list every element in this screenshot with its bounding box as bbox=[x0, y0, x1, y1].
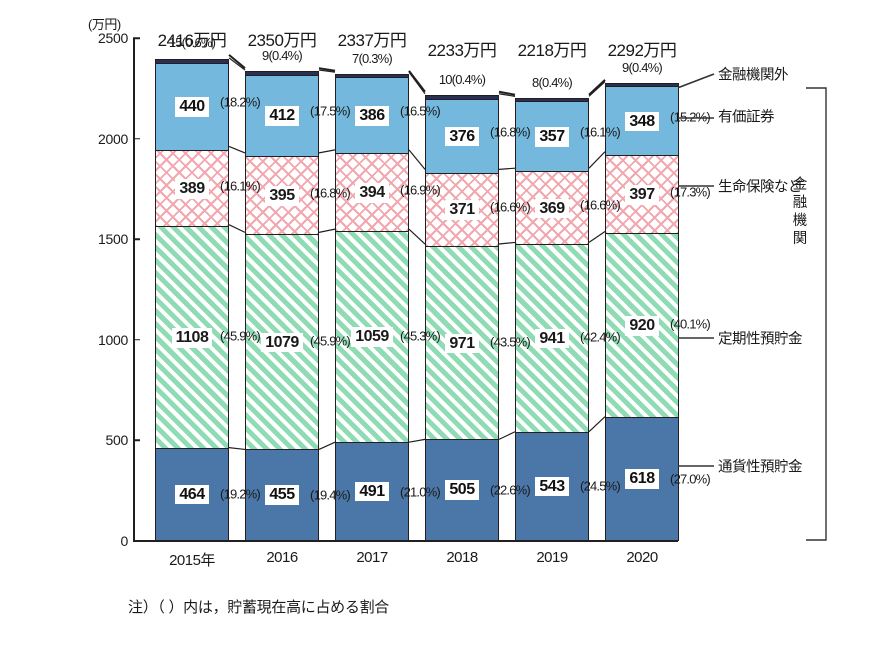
savings-composition-chart: (万円) 05001000150020002500 44038911084644… bbox=[0, 0, 870, 665]
segment-value-label: 455 bbox=[265, 485, 298, 505]
bar-total-label: 2233万円 bbox=[428, 36, 497, 61]
segment-value-label: 394 bbox=[355, 183, 388, 203]
legend-item-2[interactable]: 有価証券 bbox=[718, 106, 774, 127]
segment-percent-label: (16.8%) bbox=[310, 185, 350, 200]
y-axis-tick-mark bbox=[133, 238, 140, 240]
y-axis-tick-mark bbox=[133, 440, 140, 442]
segment-percent-label: (19.2%) bbox=[220, 487, 260, 502]
segment-value-label: 618 bbox=[625, 469, 658, 489]
segment-percent-label: (17.5%) bbox=[310, 104, 350, 119]
segment-percent-label: (16.6%) bbox=[580, 198, 620, 213]
segment-value-label: 395 bbox=[265, 186, 298, 206]
segment-value-label: 920 bbox=[625, 316, 658, 336]
legend-group-label: 金 融 機 関 bbox=[792, 176, 808, 249]
x-axis-tick-label: 2016 bbox=[266, 549, 297, 566]
segment-percent-label: (43.5%) bbox=[490, 334, 530, 349]
segment-value-label: 369 bbox=[535, 199, 568, 219]
segment-value-label: 505 bbox=[445, 480, 478, 500]
segment-value-label: 397 bbox=[625, 185, 658, 205]
segment-percent-label: (22.6%) bbox=[490, 483, 530, 498]
segment-percent-label: (45.3%) bbox=[400, 328, 440, 343]
segment-value-label: 1059 bbox=[351, 327, 393, 347]
bar-total-label: 2292万円 bbox=[608, 36, 677, 61]
segment-value-label: 412 bbox=[265, 106, 298, 126]
segment-value-label: 357 bbox=[535, 127, 568, 147]
segment-value-label: 389 bbox=[175, 179, 208, 199]
segment-percent-label: (16.6%) bbox=[490, 199, 530, 214]
segment-percent-label: (24.5%) bbox=[580, 479, 620, 494]
segment-percent-label: (42.4%) bbox=[580, 330, 620, 345]
segment-value-label: 941 bbox=[535, 329, 568, 349]
legend: 金融機関外有価証券生命保険など定期性預貯金通貨性預貯金金 融 機 関 bbox=[678, 0, 870, 665]
y-axis-tick-mark bbox=[133, 339, 140, 341]
legend-leader-line bbox=[678, 74, 714, 95]
bar-top-value-label: 9(0.4%) bbox=[622, 60, 662, 75]
segment-percent-label: (16.9%) bbox=[400, 182, 440, 197]
bar-top-value-label: 10(0.4%) bbox=[439, 72, 485, 87]
legend-item-5[interactable]: 通貨性預貯金 bbox=[718, 456, 802, 477]
x-axis-tick-label: 2020 bbox=[626, 549, 657, 566]
bar-top-value-label: 9(0.4%) bbox=[262, 48, 302, 63]
bar-total-label: 2218万円 bbox=[518, 36, 587, 61]
x-axis-tick-label: 2018 bbox=[446, 549, 477, 566]
legend-item-1[interactable]: 金融機関外 bbox=[718, 64, 788, 85]
bar-top-value-label: 7(0.3%) bbox=[352, 51, 392, 66]
x-axis-tick-label: 2015年 bbox=[169, 549, 215, 570]
segment-value-label: 1108 bbox=[172, 328, 213, 348]
x-axis-tick-label: 2019 bbox=[536, 549, 567, 566]
segment-percent-label: (45.9%) bbox=[220, 329, 260, 344]
segment-percent-label: (21.0%) bbox=[400, 484, 440, 499]
segment-percent-label: (16.8%) bbox=[490, 124, 530, 139]
segment-value-label: 348 bbox=[625, 112, 658, 132]
segment-percent-label: (19.4%) bbox=[310, 488, 350, 503]
y-axis-tick-mark bbox=[133, 138, 140, 140]
segment-value-label: 543 bbox=[535, 477, 568, 497]
segment-value-label: 440 bbox=[175, 97, 208, 117]
segment-percent-label: (18.2%) bbox=[220, 95, 260, 110]
segment-value-label: 376 bbox=[445, 127, 478, 147]
segment-value-label: 491 bbox=[355, 482, 388, 502]
segment-value-label: 386 bbox=[355, 106, 388, 126]
footnote: 注）（ ）内は，貯蓄現在高に占める割合 bbox=[128, 596, 389, 617]
segment-percent-label: (16.1%) bbox=[580, 125, 620, 140]
segment-percent-label: (45.9%) bbox=[310, 333, 350, 348]
segment-value-label: 371 bbox=[445, 200, 478, 220]
segment-value-label: 1079 bbox=[261, 333, 303, 353]
y-axis-tick-mark bbox=[133, 37, 140, 39]
segment-value-label: 971 bbox=[445, 334, 478, 354]
bar-top-value-label: 8(0.4%) bbox=[532, 75, 572, 90]
x-axis-tick-label: 2017 bbox=[356, 549, 387, 566]
legend-item-4[interactable]: 定期性預貯金 bbox=[718, 328, 802, 349]
segment-percent-label: (16.1%) bbox=[220, 178, 260, 193]
bar-total-label: 2337万円 bbox=[338, 26, 407, 51]
financial-institution-bracket bbox=[806, 88, 826, 540]
segment-percent-label: (16.5%) bbox=[400, 104, 440, 119]
bar-top-value-label: 15(0.6%) bbox=[169, 35, 215, 50]
segment-value-label: 464 bbox=[175, 485, 208, 505]
legend-item-3[interactable]: 生命保険など bbox=[718, 176, 802, 197]
